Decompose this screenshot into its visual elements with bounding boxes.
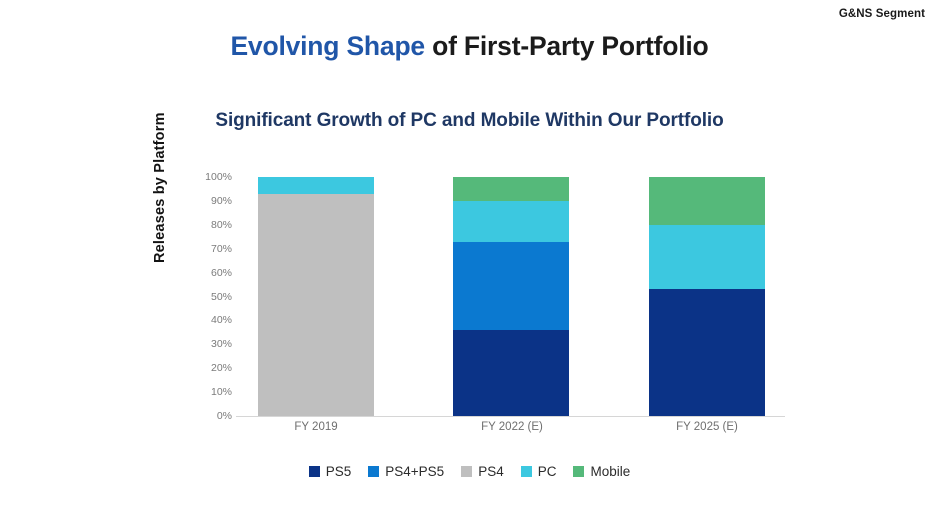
bar-segment-ps4[interactable] xyxy=(258,194,374,416)
chart-subtitle: Significant Growth of PC and Mobile With… xyxy=(0,110,939,132)
page-title: Evolving Shape of First-Party Portfolio xyxy=(0,31,939,62)
legend-label: PC xyxy=(538,464,557,479)
y-tick-label: 20% xyxy=(190,362,232,374)
legend-swatch-icon xyxy=(521,466,532,477)
slide-canvas: G&NS Segment Evolving Shape of First-Par… xyxy=(0,0,939,512)
chart-legend: PS5PS4+PS5PS4PCMobile xyxy=(0,464,939,479)
legend-label: PS5 xyxy=(326,464,352,479)
legend-label: PS4+PS5 xyxy=(385,464,444,479)
y-tick-label: 70% xyxy=(190,243,232,255)
legend-label: Mobile xyxy=(590,464,630,479)
legend-item-ps5[interactable]: PS5 xyxy=(309,464,352,479)
legend-swatch-icon xyxy=(368,466,379,477)
y-tick-label: 50% xyxy=(190,291,232,303)
plot-area xyxy=(240,177,785,416)
y-tick-label: 40% xyxy=(190,314,232,326)
bar-segment-pc[interactable] xyxy=(453,201,569,242)
legend-swatch-icon xyxy=(573,466,584,477)
y-tick-label: 90% xyxy=(190,195,232,207)
page-title-plain: of First-Party Portfolio xyxy=(425,31,709,61)
legend-item-pc[interactable]: PC xyxy=(521,464,557,479)
bar-segment-ps4-plus-ps5[interactable] xyxy=(453,242,569,330)
x-axis-line xyxy=(236,416,785,417)
x-axis-label-0: FY 2019 xyxy=(226,421,406,433)
page-title-accent: Evolving Shape xyxy=(230,31,425,61)
legend-swatch-icon xyxy=(461,466,472,477)
bar-segment-pc[interactable] xyxy=(258,177,374,194)
y-tick-label: 30% xyxy=(190,338,232,350)
legend-label: PS4 xyxy=(478,464,504,479)
y-tick-label: 80% xyxy=(190,219,232,231)
legend-item-mobile[interactable]: Mobile xyxy=(573,464,630,479)
bar-segment-mobile[interactable] xyxy=(649,177,765,225)
y-tick-label: 10% xyxy=(190,386,232,398)
bar-segment-mobile[interactable] xyxy=(453,177,569,201)
stacked-bar-chart: Releases by Platform 100%90%80%70%60%50%… xyxy=(150,165,790,450)
bar-segment-pc[interactable] xyxy=(649,225,765,290)
y-axis-title: Releases by Platform xyxy=(152,245,168,263)
bar-stack-fy2019[interactable] xyxy=(258,177,374,416)
y-tick-label: 100% xyxy=(190,171,232,183)
bar-stack-fy2022[interactable] xyxy=(453,177,569,416)
legend-item-ps4-plus-ps5[interactable]: PS4+PS5 xyxy=(368,464,444,479)
legend-item-ps4[interactable]: PS4 xyxy=(461,464,504,479)
x-axis-label-2: FY 2025 (E) xyxy=(617,421,797,433)
y-axis-ticks: 100%90%80%70%60%50%40%30%20%10%0% xyxy=(190,177,232,416)
y-tick-label: 60% xyxy=(190,267,232,279)
x-axis-label-1: FY 2022 (E) xyxy=(422,421,602,433)
bar-stack-fy2025[interactable] xyxy=(649,177,765,416)
bar-segment-ps5[interactable] xyxy=(649,289,765,416)
segment-tag: G&NS Segment xyxy=(839,8,925,20)
bar-segment-ps5[interactable] xyxy=(453,330,569,416)
legend-swatch-icon xyxy=(309,466,320,477)
